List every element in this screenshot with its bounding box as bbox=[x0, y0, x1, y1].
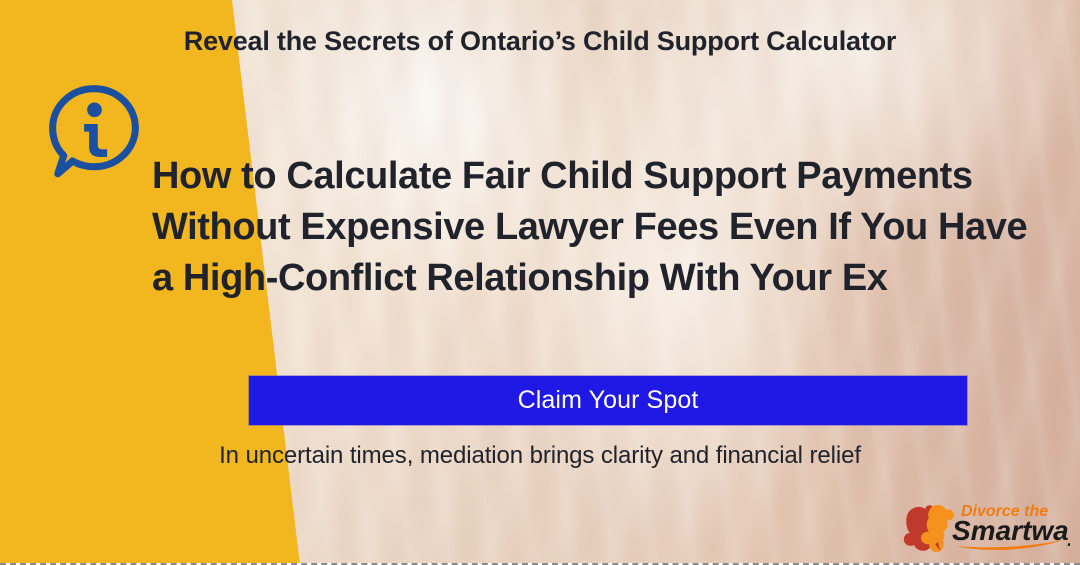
headline-line-2: Without Expensive Lawyer Fees Even If Yo… bbox=[152, 202, 1012, 253]
headline-line-1: How to Calculate Fair Child Support Paym… bbox=[152, 151, 1012, 202]
supporting-text: In uncertain times, mediation brings cla… bbox=[0, 442, 1080, 470]
info-speech-bubble-icon bbox=[47, 83, 141, 179]
logo-line-2-text: Smartway bbox=[952, 515, 1070, 546]
brand-logo[interactable]: Divorce the Smartway bbox=[894, 495, 1070, 553]
headline-line-3: a High-Conflict Relationship With Your E… bbox=[152, 253, 1012, 304]
page-title: How to Calculate Fair Child Support Paym… bbox=[152, 151, 1012, 304]
claim-your-spot-button[interactable]: Claim Your Spot bbox=[249, 376, 967, 425]
puzzle-pieces-icon bbox=[904, 505, 954, 552]
eyebrow-heading: Reveal the Secrets of Ontario’s Child Su… bbox=[0, 26, 1080, 57]
promo-banner: Reveal the Secrets of Ontario’s Child Su… bbox=[0, 0, 1080, 565]
